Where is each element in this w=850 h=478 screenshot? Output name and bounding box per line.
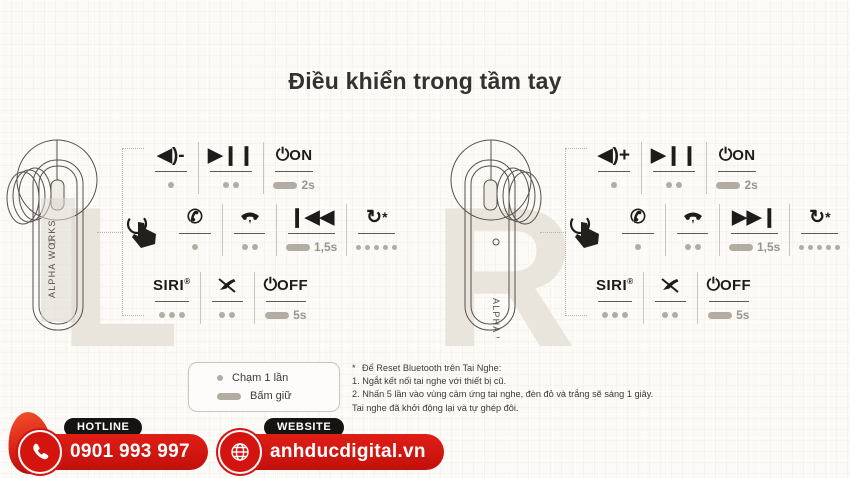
power-off-icon: ⏻OFF bbox=[264, 272, 308, 298]
gesture-dots bbox=[620, 238, 656, 256]
reject-call-icon bbox=[210, 272, 245, 298]
gesture-hold: 2s bbox=[716, 176, 757, 194]
gesture-dots bbox=[653, 306, 688, 324]
control-cell-end-call[interactable] bbox=[222, 204, 276, 256]
control-row: ◀)- ▶❙❙ ⏻ON 2s bbox=[144, 142, 324, 198]
control-cell-answer-call[interactable]: ✆ bbox=[168, 204, 222, 256]
hold-bar-icon bbox=[217, 393, 241, 400]
globe-icon bbox=[218, 430, 262, 474]
asterisk-marker: * bbox=[825, 209, 830, 225]
earbud-image-left: ALPHA WORKS bbox=[5, 138, 123, 343]
earbud-brand-left: ALPHA WORKS bbox=[47, 219, 57, 298]
control-cell-siri[interactable]: SIRI® bbox=[144, 272, 200, 324]
control-panel-right: ◀)+ ▶❙❙ ⏻ON 2s bbox=[565, 142, 850, 330]
gesture-dots bbox=[596, 306, 634, 324]
gesture-hold: 1,5s bbox=[286, 238, 337, 256]
control-row: SIRI® ⏻OFF 5s bbox=[587, 272, 760, 328]
footnote-line-2: 2. Nhấn 5 lần vào vùng cảm ứng tai nghe,… bbox=[352, 388, 732, 401]
poster-canvas: L R Điều khiển trong tầm tay ALPHA WORKS bbox=[0, 0, 850, 478]
hold-duration: 2s bbox=[301, 178, 314, 192]
gesture-dots bbox=[799, 238, 840, 256]
gesture-dots bbox=[153, 306, 191, 324]
legend-row-tap: Chạm 1 lần bbox=[217, 372, 339, 384]
footnote-heading: Để Reset Bluetooth trên Tai Nghe: bbox=[362, 363, 501, 373]
legend-tap-label: Chạm 1 lần bbox=[232, 372, 288, 384]
control-cell-answer-call[interactable]: ✆ bbox=[611, 204, 665, 256]
control-cell-previous-track[interactable]: ❙◀◀ 1,5s bbox=[276, 204, 346, 256]
answer-call-icon: ✆ bbox=[177, 204, 213, 230]
power-on-label: ON bbox=[732, 147, 755, 164]
control-row: SIRI® ⏻OFF 5s bbox=[144, 272, 317, 328]
gesture-dots bbox=[675, 238, 710, 256]
hold-duration: 5s bbox=[736, 308, 749, 322]
control-cell-volume-up[interactable]: ◀)+ bbox=[587, 142, 641, 194]
control-cell-reject-call[interactable] bbox=[200, 272, 254, 324]
previous-track-icon: ❙◀◀ bbox=[286, 204, 337, 230]
hold-duration: 5s bbox=[293, 308, 306, 322]
control-cell-reject-call[interactable] bbox=[643, 272, 697, 324]
gesture-legend: Chạm 1 lần Bấm giữ bbox=[188, 362, 340, 412]
volume-up-icon: ◀)+ bbox=[596, 142, 632, 168]
gesture-dots bbox=[232, 238, 267, 256]
legend-hold-label: Bấm giữ bbox=[250, 390, 292, 402]
gesture-hold: 5s bbox=[264, 306, 308, 324]
hotline-number: 0901 993 997 bbox=[70, 441, 190, 463]
reset-instructions: * Để Reset Bluetooth trên Tai Nghe: 1. N… bbox=[352, 362, 732, 415]
end-call-icon bbox=[232, 204, 267, 230]
control-cell-next-track[interactable]: ▶▶❙ 1,5s bbox=[719, 204, 789, 256]
gesture-dots bbox=[596, 176, 632, 194]
control-row: ◀)+ ▶❙❙ ⏻ON 2s bbox=[587, 142, 767, 198]
power-on-label: ON bbox=[289, 147, 312, 164]
legend-row-hold: Bấm giữ bbox=[217, 390, 339, 402]
power-off-label: OFF bbox=[277, 277, 308, 294]
gesture-hold: 1,5s bbox=[729, 238, 780, 256]
volume-down-icon: ◀)- bbox=[153, 142, 189, 168]
reject-call-icon bbox=[653, 272, 688, 298]
siri-icon: SIRI® bbox=[153, 272, 191, 298]
hold-duration: 2s bbox=[744, 178, 757, 192]
control-cell-power-on[interactable]: ⏻ON 2s bbox=[706, 142, 766, 194]
website-url: anhducdigital.vn bbox=[270, 441, 426, 463]
hold-duration: 1,5s bbox=[314, 240, 337, 254]
gesture-dots bbox=[208, 176, 254, 194]
website-badge[interactable]: WEBSITE anhducdigital.vn bbox=[222, 434, 444, 470]
tap-hand-icon bbox=[565, 208, 609, 252]
footnote-line-1: 1. Ngắt kết nối tai nghe với thiết bị cũ… bbox=[352, 375, 732, 388]
control-cell-play-pause[interactable]: ▶❙❙ bbox=[641, 142, 706, 194]
control-cell-volume-down[interactable]: ◀)- bbox=[144, 142, 198, 194]
gesture-hold: 5s bbox=[707, 306, 751, 324]
answer-call-icon: ✆ bbox=[620, 204, 656, 230]
control-cell-reset[interactable]: ↻* bbox=[789, 204, 849, 256]
asterisk-marker: * bbox=[382, 209, 387, 225]
next-track-icon: ▶▶❙ bbox=[729, 204, 780, 230]
control-cell-play-pause[interactable]: ▶❙❙ bbox=[198, 142, 263, 194]
hotline-badge[interactable]: HOTLINE 0901 993 997 bbox=[22, 434, 208, 470]
control-row: ✆ ▶▶❙ 1,5s bbox=[565, 204, 849, 260]
gesture-dots bbox=[177, 238, 213, 256]
siri-icon: SIRI® bbox=[596, 272, 634, 298]
control-row: ✆ ❙◀◀ 1,5s bbox=[122, 204, 406, 260]
power-off-icon: ⏻OFF bbox=[707, 272, 751, 298]
control-cell-siri[interactable]: SIRI® bbox=[587, 272, 643, 324]
hold-duration: 1,5s bbox=[757, 240, 780, 254]
gesture-dots bbox=[153, 176, 189, 194]
power-on-icon: ⏻ON bbox=[716, 142, 757, 168]
footnote-star: * bbox=[352, 362, 356, 375]
end-call-icon bbox=[675, 204, 710, 230]
control-cell-power-off[interactable]: ⏻OFF 5s bbox=[254, 272, 317, 324]
control-cell-reset[interactable]: ↻* bbox=[346, 204, 406, 256]
earbud-image-right: ALPHA WORKS bbox=[425, 138, 543, 343]
power-off-label: OFF bbox=[720, 277, 751, 294]
play-pause-icon: ▶❙❙ bbox=[651, 142, 697, 168]
play-pause-icon: ▶❙❙ bbox=[208, 142, 254, 168]
reset-icon: ↻* bbox=[356, 204, 397, 230]
gesture-hold: 2s bbox=[273, 176, 314, 194]
tap-hand-icon bbox=[122, 208, 166, 252]
gesture-dots bbox=[651, 176, 697, 194]
gesture-dots bbox=[210, 306, 245, 324]
page-title: Điều khiển trong tầm tay bbox=[0, 68, 850, 95]
contact-footer: HOTLINE 0901 993 997 WEBSITE anhducdigit… bbox=[0, 410, 850, 478]
control-cell-power-off[interactable]: ⏻OFF 5s bbox=[697, 272, 760, 324]
control-cell-end-call[interactable] bbox=[665, 204, 719, 256]
reset-icon: ↻* bbox=[799, 204, 840, 230]
control-panel-left: ◀)- ▶❙❙ ⏻ON 2s bbox=[122, 142, 402, 330]
gesture-dots bbox=[356, 238, 397, 256]
phone-icon bbox=[18, 430, 62, 474]
power-on-icon: ⏻ON bbox=[273, 142, 314, 168]
earbud-brand-right: ALPHA WORKS bbox=[491, 298, 501, 338]
control-cell-power-on[interactable]: ⏻ON 2s bbox=[263, 142, 323, 194]
tap-dot-icon bbox=[217, 375, 223, 381]
